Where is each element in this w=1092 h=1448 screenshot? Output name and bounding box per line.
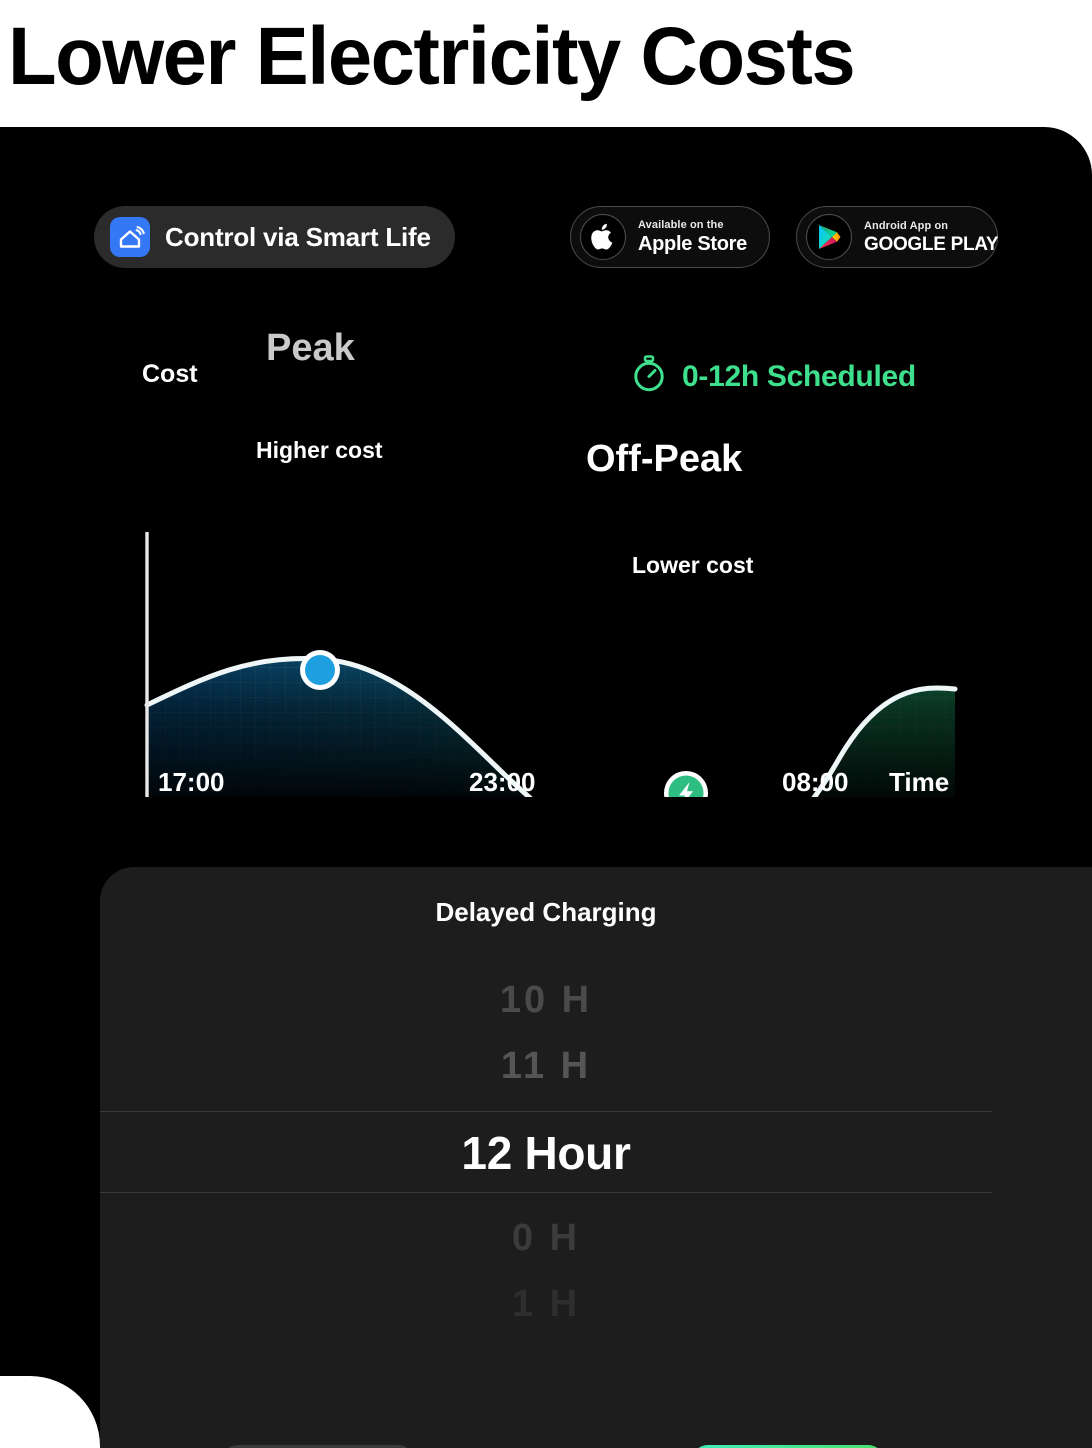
promo-graphic: Lower Electricity Costs Control via Smar… (0, 0, 1092, 1448)
x-axis-tick-labels: 17:00 23:00 08:00 Time (0, 767, 1010, 807)
card-corner-mask (0, 1376, 100, 1448)
picker-option[interactable]: 11 H (100, 1033, 992, 1099)
schedule-badge-label: 0-12h Scheduled (682, 360, 916, 394)
lower-cost-label: Lower cost (632, 552, 753, 579)
x-axis-title: Time (889, 767, 949, 798)
off-peak-label: Off-Peak (586, 438, 742, 481)
panel-title: Delayed Charging (100, 897, 992, 928)
cost-vs-time-chart: Cost 0-12h Scheduled (0, 127, 1092, 827)
picker-selected-option[interactable]: 12 Hour (100, 1111, 992, 1193)
x-tick-label: 08:00 (782, 767, 849, 798)
peak-label: Peak (266, 327, 355, 370)
hour-picker[interactable]: 10 H 11 H 12 Hour 0 H 1 H (100, 967, 992, 1337)
y-axis-title: Cost (142, 360, 198, 389)
picker-option[interactable]: 1 H (100, 1271, 992, 1337)
device-screen-card: Control via Smart Life Available on the … (0, 127, 1092, 1448)
chart-plot-area (0, 397, 1000, 767)
delayed-charging-panel: Delayed Charging 10 H 11 H 12 Hour 0 H 1… (100, 867, 1092, 1448)
status-badge: 0-12h Scheduled (630, 355, 916, 398)
x-tick-label: 23:00 (469, 767, 536, 798)
page-title: Lower Electricity Costs (8, 0, 1036, 118)
higher-cost-label: Higher cost (256, 437, 383, 464)
picker-option[interactable]: 0 H (100, 1205, 992, 1271)
x-tick-label: 17:00 (158, 767, 225, 798)
stopwatch-icon (630, 355, 668, 398)
picker-option[interactable]: 10 H (100, 967, 992, 1033)
